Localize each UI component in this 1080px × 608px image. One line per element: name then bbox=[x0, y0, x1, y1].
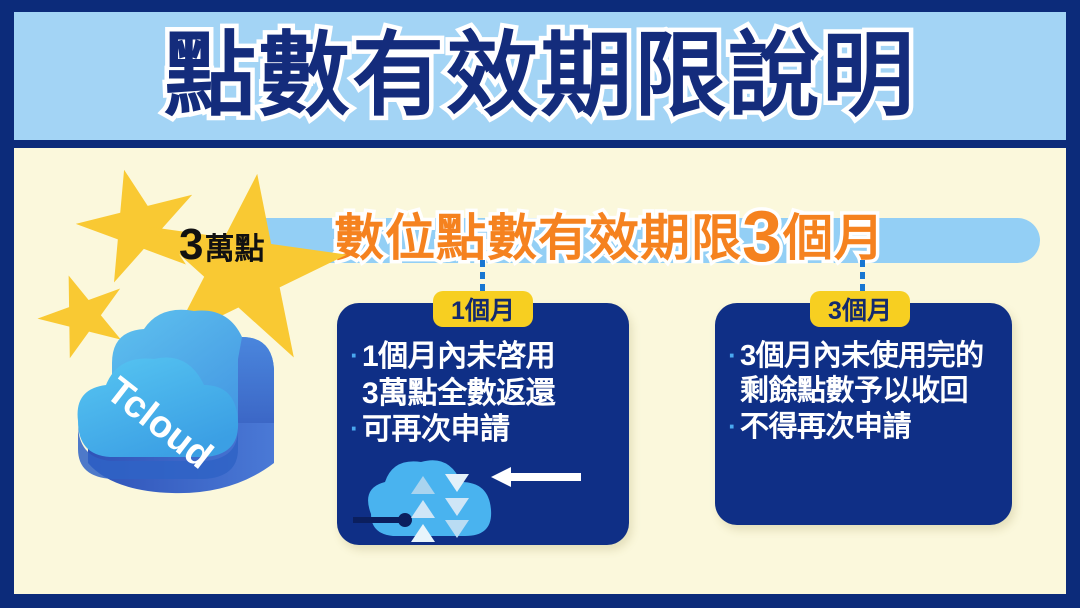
bullet-icon: · bbox=[347, 412, 362, 446]
list-item-label: 剩餘點數予以收回 bbox=[740, 374, 1006, 409]
card-3-month-list: · 3個月內未使用完的 剩餘點數予以收回 · 不得再次申請 bbox=[725, 339, 1006, 445]
card-1-month-list: · 1個月內未啓用 3萬點全數返還 · 可再次申請 bbox=[347, 339, 623, 449]
list-item: 3萬點全數返還 bbox=[347, 376, 623, 413]
tcloud-logo: Tcloud bbox=[52, 303, 302, 508]
bullet-icon: · bbox=[725, 339, 740, 373]
card-3-month: · 3個月內未使用完的 剩餘點數予以收回 · 不得再次申請 bbox=[715, 303, 1012, 525]
list-item: · 不得再次申請 bbox=[725, 410, 1006, 445]
points-star-label: 3 萬點 bbox=[179, 223, 264, 267]
list-item-label: 可再次申請 bbox=[362, 412, 623, 449]
points-amount: 3 bbox=[179, 223, 203, 267]
tcloud-cloud-icon: Tcloud bbox=[52, 303, 302, 508]
list-item-label: 1個月內未啓用 bbox=[362, 339, 623, 376]
list-item: 剩餘點數予以收回 bbox=[725, 374, 1006, 409]
bullet-icon: · bbox=[725, 410, 740, 444]
card-1-month: · 1個月內未啓用 3萬點全數返還 · 可再次申請 bbox=[337, 303, 629, 545]
mini-cloud-refund-icon bbox=[353, 448, 523, 543]
page-title: 點數有效期限說明 bbox=[164, 30, 916, 122]
list-item: · 可再次申請 bbox=[347, 412, 623, 449]
badge-month-3: 3個月 bbox=[810, 291, 910, 327]
bullet-icon: · bbox=[347, 339, 362, 373]
ribbon-highlight-number: 3 bbox=[742, 201, 783, 273]
ribbon-text-after: 個月 bbox=[783, 198, 885, 270]
ribbon-text-before: 數位點數有效期限 bbox=[334, 198, 742, 270]
validity-ribbon-text: 數位點數有效期限 3 個月 bbox=[334, 198, 885, 270]
list-item-label: 3萬點全數返還 bbox=[362, 376, 623, 413]
header-band: 點數有效期限說明 bbox=[14, 12, 1066, 140]
infographic-poster: 點數有效期限說明 數位點數有效期限 3 個月 3 萬點 bbox=[0, 0, 1080, 608]
list-item-label: 3個月內未使用完的 bbox=[740, 339, 1006, 374]
list-item: · 1個月內未啓用 bbox=[347, 339, 623, 376]
list-item: · 3個月內未使用完的 bbox=[725, 339, 1006, 374]
badge-month-1: 1個月 bbox=[433, 291, 533, 327]
points-unit: 萬點 bbox=[204, 235, 264, 265]
arrow-left-icon bbox=[489, 467, 581, 487]
body-panel: 數位點數有效期限 3 個月 3 萬點 bbox=[14, 148, 1066, 594]
list-item-label: 不得再次申請 bbox=[740, 410, 1006, 445]
